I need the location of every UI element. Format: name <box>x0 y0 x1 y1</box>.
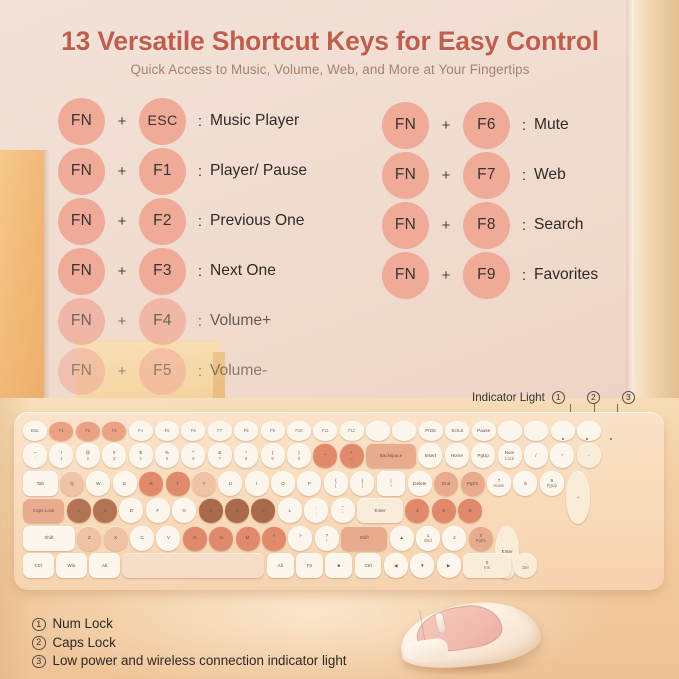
key-secondary-label: F3 <box>112 428 117 433</box>
shortcut-row: FN+F5:Volume- <box>58 346 307 396</box>
shortcut-function-key: F8 <box>463 202 510 249</box>
keyboard-key: T <box>166 471 190 496</box>
keyboard-key: 7Home <box>487 471 511 496</box>
keyboard-key: S <box>93 498 117 523</box>
shortcut-row: FN+ESC:Music Player <box>58 96 307 146</box>
key-primary-label: R <box>149 481 152 486</box>
key-secondary-label: PgUp <box>547 483 557 488</box>
shortcut-plus-symbol: + <box>429 267 463 284</box>
page-title: 13 Versatile Shortcut Keys for Easy Cont… <box>0 26 660 57</box>
key-secondary-label: F4 <box>138 428 143 433</box>
key-primary-label: M <box>246 535 250 540</box>
shortcut-modifier-key: FN <box>382 252 429 299</box>
shortcut-function-key: F7 <box>463 152 510 199</box>
keyboard-key: (9 <box>261 443 285 468</box>
key-secondary-label: ] <box>362 483 363 488</box>
key-secondary-label: 2 <box>87 456 89 461</box>
keyboard-key: F3 <box>102 421 126 441</box>
key-primary-label: S <box>104 508 107 513</box>
key-primary-label: / <box>535 453 536 458</box>
keyboard-key: }] <box>350 471 374 496</box>
keyboard-key: $4 <box>129 443 153 468</box>
keyboard-key <box>524 421 548 441</box>
key-primary-label: F <box>156 508 159 513</box>
keyboard-key: F6 <box>181 421 205 441</box>
key-secondary-label: / <box>326 538 327 543</box>
keyboard-key: NumLock <box>498 443 522 468</box>
key-secondary-label: ; <box>316 511 317 516</box>
legend-item-number: 3 <box>32 655 46 669</box>
key-primary-label: X <box>114 535 117 540</box>
keyboard-key: >. <box>288 526 312 551</box>
key-primary-label: Shift <box>44 535 53 540</box>
key-primary-label: W <box>96 481 100 486</box>
keyboard-row: ~`!1@2#3$4%5^6&7*8(9)0_-+=BackspaceInser… <box>23 443 655 468</box>
keyboard-key: 9PgUp <box>540 471 564 496</box>
legend-item-label: Num Lock <box>53 615 113 634</box>
keyboard-key: V <box>156 526 180 551</box>
key-secondary-label: 1 <box>60 456 62 461</box>
key-secondary-label: [ <box>335 483 336 488</box>
indicator-led-1 <box>562 438 564 440</box>
key-primary-label: Caps Lock <box>33 508 55 513</box>
shortcut-colon: : <box>190 113 210 130</box>
keyboard-key: Insert <box>418 443 442 468</box>
keyboard-key <box>366 421 390 441</box>
key-primary-label: P <box>308 481 311 486</box>
key-primary-label: 8 <box>524 481 527 486</box>
keyboard-row: ShiftZXCVBNM<,>.?/Shift▲1End23PgDnEnter <box>23 526 655 551</box>
keyboard-key: !1 <box>49 443 73 468</box>
shortcut-row: FN+F1:Player/ Pause <box>58 146 307 196</box>
keyboard-key: 0Ins <box>463 553 511 578</box>
key-secondary-label: F2 <box>85 428 90 433</box>
key-primary-label: ScrLk <box>451 428 463 433</box>
keyboard-key: .Del <box>513 553 537 578</box>
shortcut-row: FN+F6:Mute <box>382 100 598 150</box>
keyboard-key: Tab <box>23 471 58 496</box>
keyboard-key: 3PgDn <box>469 526 493 551</box>
shortcut-colon: : <box>514 267 534 284</box>
keyboard-key: / <box>524 443 548 468</box>
keyboard-key: Z <box>77 526 101 551</box>
key-primary-label: I <box>256 481 257 486</box>
keyboard-key: F9 <box>261 421 285 441</box>
keyboard-key: *8 <box>234 443 258 468</box>
keyboard-key: ▼ <box>410 553 434 578</box>
keyboard-key: + <box>566 471 590 524</box>
keyboard-key: <, <box>262 526 286 551</box>
key-secondary-label: F9 <box>270 428 275 433</box>
keyboard-key: * <box>550 443 574 468</box>
keyboard-key: PgUp <box>471 443 495 468</box>
indicator-light-label: Indicator Light <box>472 391 545 404</box>
keyboard-key: ◀ <box>384 553 408 578</box>
key-primary-label: Ctrl <box>35 563 42 568</box>
keyboard-key: F12 <box>340 421 364 441</box>
keyboard-key: A <box>67 498 91 523</box>
shortcut-plus-symbol: + <box>105 263 139 280</box>
keyboard-key: F <box>146 498 170 523</box>
shortcut-action-label: Volume+ <box>210 312 271 330</box>
keyboard-key: Backspace <box>366 443 416 468</box>
keyboard-key: Caps Lock <box>23 498 64 523</box>
shortcut-action-label: Music Player <box>210 112 299 130</box>
keyboard-key: :; <box>304 498 328 523</box>
key-secondary-label: 6 <box>192 456 194 461</box>
shortcut-colon: : <box>190 213 210 230</box>
key-primary-label: Pause <box>477 428 490 433</box>
keyboard-key: D <box>119 498 143 523</box>
shortcut-modifier-key: FN <box>58 98 105 145</box>
shortcut-plus-symbol: + <box>105 163 139 180</box>
shortcut-plus-symbol: + <box>429 117 463 134</box>
keyboard-key: 8 <box>513 471 537 496</box>
keyboard-key: Ctrl <box>355 553 382 578</box>
keyboard-key: F7 <box>208 421 232 441</box>
key-secondary-label: F7 <box>217 428 222 433</box>
shortcut-action-label: Previous One <box>210 212 304 230</box>
keyboard-key: H <box>199 498 223 523</box>
key-primary-label: K <box>262 508 265 513</box>
key-secondary-label: 8 <box>245 456 247 461</box>
key-primary-label: - <box>588 453 590 458</box>
keyboard-key: Enter <box>357 498 403 523</box>
key-primary-label: G <box>182 508 186 513</box>
shortcut-list-left: FN+ESC:Music PlayerFN+F1:Player/ PauseFN… <box>58 96 307 396</box>
background-left-panel <box>0 150 44 412</box>
shortcut-function-key: F1 <box>139 148 186 195</box>
keyboard-key: R <box>139 471 163 496</box>
shortcut-function-key: F3 <box>139 248 186 295</box>
keyboard-key: 1End <box>416 526 440 551</box>
key-secondary-label: F11 <box>322 428 329 433</box>
key-primary-label: ▲ <box>399 535 404 540</box>
keyboard-key <box>577 421 601 441</box>
key-secondary-label: Ins <box>484 565 489 570</box>
key-primary-label: Alt <box>278 563 283 568</box>
keyboard-key: F4 <box>129 421 153 441</box>
shortcut-plus-symbol: + <box>105 363 139 380</box>
indicator-marker-3: 3 <box>622 391 635 404</box>
keyboard-key: PrtSc <box>419 421 443 441</box>
key-primary-label: PrtSc <box>425 428 436 433</box>
shortcut-modifier-key: FN <box>58 298 105 345</box>
keyboard-key: N <box>209 526 233 551</box>
key-primary-label: PgDn <box>467 481 479 486</box>
keyboard-key: "' <box>331 498 355 523</box>
shortcut-row: FN+F8:Search <box>382 200 598 250</box>
key-primary-label: ◀ <box>394 563 398 568</box>
shortcut-colon: : <box>190 313 210 330</box>
keyboard-key: End <box>434 471 458 496</box>
keyboard-key: F10 <box>287 421 311 441</box>
keyboard-key: F11 <box>313 421 337 441</box>
key-primary-label: End <box>442 481 450 486</box>
keyboard-key: C <box>130 526 154 551</box>
key-primary-label: Shift <box>360 535 369 540</box>
key-secondary-label: Del <box>522 565 528 570</box>
keyboard-key: Esc <box>23 421 47 441</box>
keyboard-image: EscF1F2F3F4F5F6F7F8F9F10F11F12PrtScScrLk… <box>14 412 664 590</box>
keyboard-key: ▶ <box>437 553 461 578</box>
shortcut-function-key: F4 <box>139 298 186 345</box>
page-subtitle: Quick Access to Music, Volume, Web, and … <box>0 62 660 77</box>
shortcut-action-label: Favorites <box>534 266 598 284</box>
key-secondary-label: , <box>273 538 274 543</box>
keyboard-key: G <box>172 498 196 523</box>
key-secondary-label: F10 <box>295 428 302 433</box>
shortcut-modifier-key: FN <box>58 348 105 395</box>
legend-item-label: Caps Lock <box>53 634 116 653</box>
key-secondary-label: Home <box>494 483 505 488</box>
keyboard-key: PgDn <box>461 471 485 496</box>
shortcut-colon: : <box>190 263 210 280</box>
keyboard-key <box>392 421 416 441</box>
keyboard-key: F1 <box>49 421 73 441</box>
keyboard-key: F2 <box>76 421 100 441</box>
keyboard-key: Win <box>56 553 87 578</box>
key-primary-label: Y <box>202 481 205 486</box>
keyboard-key: X <box>104 526 128 551</box>
keyboard-key: %5 <box>155 443 179 468</box>
shortcut-modifier-key: FN <box>382 202 429 249</box>
shortcut-modifier-key: FN <box>382 152 429 199</box>
indicator-legend: 1Num Lock2Caps Lock3Low power and wirele… <box>32 615 347 671</box>
shortcut-colon: : <box>190 363 210 380</box>
key-secondary-label: F8 <box>244 428 249 433</box>
shortcut-modifier-key: FN <box>58 198 105 245</box>
key-secondary-label: - <box>325 456 326 461</box>
shortcut-plus-symbol: + <box>429 217 463 234</box>
legend-item: 3Low power and wireless connection indic… <box>32 652 347 671</box>
keyboard-key: - <box>577 443 601 468</box>
keyboard-key: ~` <box>23 443 47 468</box>
keyboard-key: B <box>183 526 207 551</box>
key-primary-label: B <box>193 535 196 540</box>
keyboard-key: Shift <box>23 526 75 551</box>
mouse-image <box>394 596 546 679</box>
key-primary-label: Insert <box>425 453 437 458</box>
shortcut-modifier-key: FN <box>58 248 105 295</box>
key-primary-label: ▼ <box>420 563 425 568</box>
keyboard-key: #3 <box>102 443 126 468</box>
keyboard-row: Caps LockASDFGHJKL:;"'Enter456 <box>23 498 655 523</box>
key-primary-label: V <box>167 535 170 540</box>
key-primary-label: ■ <box>337 563 340 568</box>
shortcut-action-label: Volume- <box>210 362 267 380</box>
key-primary-label: PgUp <box>477 453 489 458</box>
key-primary-label: Z <box>88 535 91 540</box>
shortcut-action-label: Mute <box>534 116 569 134</box>
key-secondary-label: . <box>300 538 301 543</box>
key-primary-label: Tab <box>37 481 44 486</box>
key-primary-label: E <box>123 481 126 486</box>
keyboard-key: J <box>225 498 249 523</box>
key-secondary-label: ' <box>342 511 343 516</box>
keyboard-key: K <box>251 498 275 523</box>
keyboard-key: _- <box>313 443 337 468</box>
key-secondary-label: F1 <box>59 428 64 433</box>
keyboard-key: ■ <box>325 553 352 578</box>
keyboard-key: += <box>340 443 364 468</box>
key-primary-label: Win <box>68 563 76 568</box>
keyboard-key: M <box>236 526 260 551</box>
keyboard-key: 5 <box>432 498 456 523</box>
keyboard-key: @2 <box>76 443 100 468</box>
key-secondary-label: 0 <box>298 456 300 461</box>
key-primary-label: Q <box>70 481 74 486</box>
keyboard-row: CtrlWinAltAltFn■Ctrl◀▼▶0Ins.Del <box>23 553 655 578</box>
shortcut-function-key: F6 <box>463 102 510 149</box>
key-primary-label: Ctrl <box>364 563 371 568</box>
key-secondary-label: Lock <box>505 456 514 461</box>
keyboard-key: F8 <box>234 421 258 441</box>
key-primary-label: 5 <box>443 508 446 513</box>
key-primary-label: Alt <box>102 563 107 568</box>
keyboard-key: |\ <box>377 471 406 496</box>
key-primary-label: 6 <box>469 508 472 513</box>
shortcut-colon: : <box>514 217 534 234</box>
key-secondary-label: 3 <box>113 456 115 461</box>
keyboard-key: Delete <box>408 471 432 496</box>
shortcut-row: FN+F2:Previous One <box>58 196 307 246</box>
keyboard-key: ?/ <box>315 526 339 551</box>
legend-item-number: 2 <box>32 636 46 650</box>
key-secondary-label: F12 <box>348 428 355 433</box>
key-secondary-label: \ <box>390 483 391 488</box>
shortcut-plus-symbol: + <box>105 213 139 230</box>
key-secondary-label: 5 <box>166 456 168 461</box>
keyboard-key: U <box>218 471 242 496</box>
shortcut-row: FN+F9:Favorites <box>382 250 598 300</box>
shortcut-row: FN+F4:Volume+ <box>58 296 307 346</box>
keyboard-key: W <box>86 471 110 496</box>
key-primary-label: U <box>229 481 232 486</box>
key-primary-label: Fn <box>307 563 312 568</box>
key-secondary-label: F5 <box>165 428 170 433</box>
legend-item: 1Num Lock <box>32 615 347 634</box>
indicator-led-2 <box>586 438 588 440</box>
key-primary-label: L <box>289 508 292 513</box>
keyboard-key: P <box>297 471 321 496</box>
key-secondary-label: 7 <box>219 456 221 461</box>
shortcut-colon: : <box>514 117 534 134</box>
key-primary-label: Home <box>451 453 463 458</box>
legend-item-number: 1 <box>32 618 46 632</box>
keyboard-key: E <box>113 471 137 496</box>
keyboard-key: F5 <box>155 421 179 441</box>
keyboard-key: ▲ <box>390 526 414 551</box>
keyboard-row: EscF1F2F3F4F5F6F7F8F9F10F11F12PrtScScrLk… <box>23 421 655 441</box>
keyboard-key: 2 <box>442 526 466 551</box>
indicator-led-3 <box>610 438 612 440</box>
keyboard-key: 4 <box>405 498 429 523</box>
keyboard-key: ^6 <box>181 443 205 468</box>
shortcut-action-label: Player/ Pause <box>210 162 307 180</box>
key-primary-label: 2 <box>453 535 456 540</box>
keyboard-key: O <box>271 471 295 496</box>
shortcut-plus-symbol: + <box>429 167 463 184</box>
keyboard-key: I <box>245 471 269 496</box>
key-primary-label: O <box>281 481 285 486</box>
shortcut-row: FN+F3:Next One <box>58 246 307 296</box>
keyboard-row: TabQWERTYUIOP{[}]|\DeleteEndPgDn7Home89P… <box>23 471 655 496</box>
keyboard-key: Y <box>192 471 216 496</box>
keyboard-key: L <box>278 498 302 523</box>
key-secondary-label: = <box>350 456 352 461</box>
shortcut-function-key: F5 <box>139 348 186 395</box>
key-primary-label: D <box>130 508 133 513</box>
keyboard-key: ScrLk <box>445 421 469 441</box>
key-primary-label: * <box>561 453 563 458</box>
shortcut-action-label: Web <box>534 166 566 184</box>
shortcut-list-right: FN+F6:MuteFN+F7:WebFN+F8:SearchFN+F9:Fav… <box>382 100 598 300</box>
keyboard-key: Alt <box>89 553 120 578</box>
keyboard-key: Q <box>60 471 84 496</box>
key-secondary-label: F6 <box>191 428 196 433</box>
shortcut-action-label: Next One <box>210 262 276 280</box>
keyboard-key: )0 <box>287 443 311 468</box>
key-secondary-label: 9 <box>271 456 273 461</box>
key-primary-label: ▶ <box>447 563 451 568</box>
legend-item: 2Caps Lock <box>32 634 347 653</box>
key-primary-label: + <box>577 495 580 500</box>
keyboard-key: Pause <box>472 421 496 441</box>
keyboard-key: Shift <box>341 526 387 551</box>
shortcut-function-key: ESC <box>139 98 186 145</box>
shortcut-plus-symbol: + <box>105 313 139 330</box>
keyboard-key: Alt <box>267 553 294 578</box>
shortcut-plus-symbol: + <box>105 113 139 130</box>
indicator-light-callout: Indicator Light 1 2 3 <box>472 391 635 404</box>
key-primary-label: T <box>176 481 179 486</box>
shortcut-modifier-key: FN <box>58 148 105 195</box>
key-primary-label: J <box>236 508 238 513</box>
indicator-marker-1: 1 <box>552 391 565 404</box>
key-primary-label: A <box>77 508 80 513</box>
keyboard-key <box>498 421 522 441</box>
shortcut-action-label: Search <box>534 216 583 234</box>
shortcut-modifier-key: FN <box>382 102 429 149</box>
keyboard-key: Ctrl <box>23 553 54 578</box>
key-primary-label: 4 <box>416 508 419 513</box>
keyboard-key: Fn <box>296 553 323 578</box>
key-primary-label: Delete <box>413 481 426 486</box>
keyboard-key: Home <box>445 443 469 468</box>
keyboard-key <box>122 553 264 578</box>
key-secondary-label: End <box>424 538 431 543</box>
shortcut-function-key: F2 <box>139 198 186 245</box>
indicator-marker-2: 2 <box>587 391 600 404</box>
shortcut-function-key: F9 <box>463 252 510 299</box>
key-secondary-label: 4 <box>139 456 141 461</box>
keyboard-key: 6 <box>458 498 482 523</box>
key-primary-label: Esc <box>31 428 39 433</box>
shortcut-colon: : <box>514 167 534 184</box>
legend-item-label: Low power and wireless connection indica… <box>53 652 347 671</box>
key-primary-label: Enter <box>375 508 386 513</box>
keyboard-key: {[ <box>324 471 348 496</box>
key-primary-label: C <box>140 535 143 540</box>
key-primary-label: N <box>220 535 223 540</box>
key-secondary-label: PgDn <box>476 538 486 543</box>
shortcut-row: FN+F7:Web <box>382 150 598 200</box>
keyboard-key: &7 <box>208 443 232 468</box>
key-primary-label: H <box>209 508 212 513</box>
key-primary-label: Backspace <box>380 453 402 458</box>
key-secondary-label: ` <box>34 456 35 461</box>
